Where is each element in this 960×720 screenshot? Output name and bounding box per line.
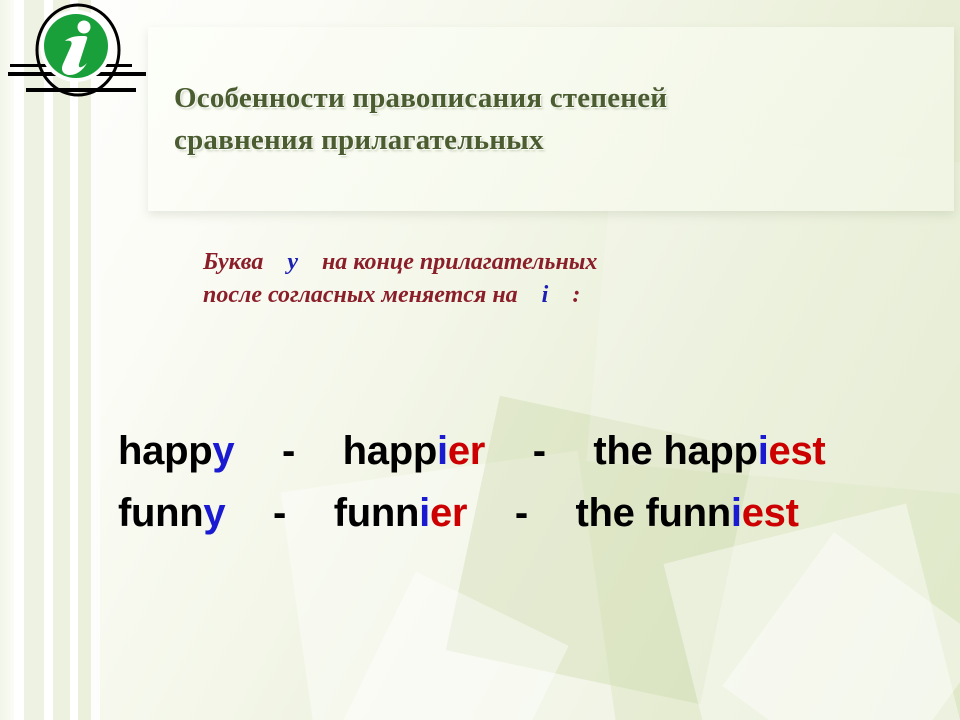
comparative-form: funnier	[334, 491, 467, 535]
example-row: funny - funnier - the funniest	[118, 482, 878, 544]
page-title: Особенности правописания степеней сравне…	[174, 77, 934, 161]
spelling-rule-line1: Буква y на конце прилагательных	[203, 246, 823, 279]
page-title-line2: сравнения прилагательных	[174, 119, 934, 161]
separator-dash: -	[273, 491, 286, 535]
stripe-6	[70, 0, 78, 720]
separator-dash: -	[515, 491, 528, 535]
stripe-5	[53, 0, 70, 720]
superlative-form: the funniest	[576, 491, 799, 535]
superlative-stem: funn	[645, 491, 730, 535]
superlative-letter: i	[758, 429, 769, 473]
stripe-1	[0, 0, 14, 720]
information-icon-svg	[8, 2, 148, 107]
comparative-stem: happ	[343, 429, 437, 473]
rule-line2-part2: :	[572, 282, 580, 308]
comparative-letter: i	[419, 491, 430, 535]
separator-dash: -	[282, 429, 295, 473]
rule-letter-i: i	[542, 282, 549, 308]
positive-form: funny	[118, 491, 225, 535]
stripe-3	[24, 0, 44, 720]
slide-canvas: Особенности правописания степеней сравне…	[0, 0, 960, 720]
deco-square-4	[722, 532, 960, 720]
stripe-7	[78, 0, 91, 720]
positive-stem: happ	[118, 429, 212, 473]
stripe-2	[14, 0, 24, 720]
rule-line2-part1: после согласных меняется на	[203, 282, 518, 308]
positive-form: happy	[118, 429, 234, 473]
superlative-stem: happ	[663, 429, 757, 473]
spelling-rule: Буква y на конце прилагательных после со…	[203, 246, 823, 312]
stripe-4	[44, 0, 53, 720]
information-icon	[8, 2, 148, 107]
example-row: happy - happier - the happiest	[118, 420, 878, 482]
page-title-line1: Особенности правописания степеней	[174, 77, 934, 119]
superlative-article: the	[593, 429, 663, 473]
rule-line1-part1: Буква	[203, 249, 263, 275]
comparative-suffix: er	[430, 491, 467, 535]
comparative-form: happier	[343, 429, 485, 473]
deco-square-5	[341, 571, 568, 720]
comparative-stem: funn	[334, 491, 419, 535]
left-stripe-band	[0, 0, 104, 720]
superlative-form: the happiest	[593, 429, 825, 473]
comparative-suffix: er	[448, 429, 485, 473]
superlative-article: the	[576, 491, 646, 535]
positive-stem: funn	[118, 491, 203, 535]
rule-line1-part2: на конце прилагательных	[322, 249, 597, 275]
stripe-8	[91, 0, 100, 720]
information-icon-dot	[78, 21, 91, 34]
positive-ending: y	[212, 429, 234, 473]
spelling-rule-line2: после согласных меняется на i :	[203, 279, 823, 312]
superlative-suffix: est	[742, 491, 799, 535]
title-panel: Особенности правописания степеней сравне…	[148, 27, 954, 211]
examples-block: happy - happier - the happiest funny - f…	[118, 420, 878, 544]
superlative-suffix: est	[769, 429, 826, 473]
positive-ending: y	[203, 491, 225, 535]
comparative-letter: i	[437, 429, 448, 473]
superlative-letter: i	[731, 491, 742, 535]
separator-dash: -	[533, 429, 546, 473]
rule-letter-y: y	[287, 249, 298, 275]
